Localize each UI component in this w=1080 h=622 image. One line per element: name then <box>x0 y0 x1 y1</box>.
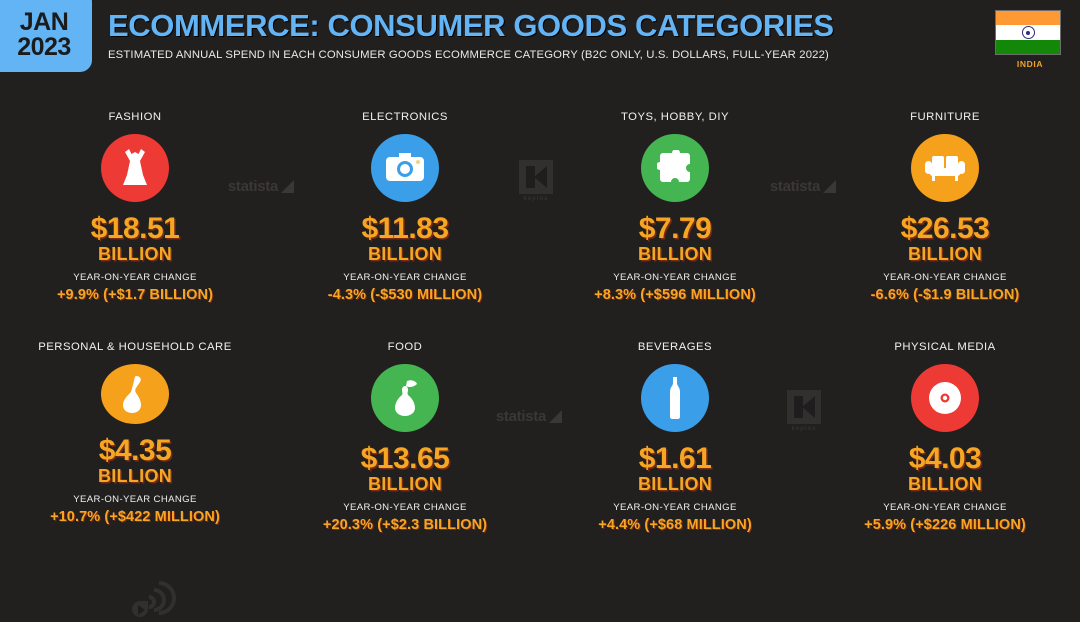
category-icon-circle <box>101 134 169 202</box>
category-label: ELECTRONICS <box>362 111 448 123</box>
yoy-label: YEAR-ON-YEAR CHANGE <box>343 502 466 513</box>
category-label: FASHION <box>108 111 161 123</box>
card-furniture: FURNITURE $26.53 BILLION YEAR-ON-YEAR CH… <box>810 100 1080 330</box>
category-value: $11.83 <box>361 213 448 244</box>
date-badge: JAN 2023 <box>0 0 92 72</box>
yoy-label: YEAR-ON-YEAR CHANGE <box>73 494 196 505</box>
category-unit: BILLION <box>908 244 982 265</box>
card-physical-media: PHYSICAL MEDIA $4.03 BILLION YEAR-ON-YEA… <box>810 330 1080 560</box>
signal-arc-icon <box>139 592 159 612</box>
disc-icon <box>922 375 968 421</box>
yoy-value: +5.9% (+$226 MILLION) <box>864 517 1026 533</box>
yoy-label: YEAR-ON-YEAR CHANGE <box>73 272 196 283</box>
category-label: TOYS, HOBBY, DIY <box>621 111 729 123</box>
camera-icon <box>386 153 424 183</box>
india-flag-icon <box>995 10 1061 55</box>
country-label: INDIA <box>995 59 1065 69</box>
category-grid: FASHION $18.51 BILLION YEAR-ON-YEAR CHAN… <box>0 100 1080 559</box>
category-unit: BILLION <box>638 244 712 265</box>
category-icon-circle <box>911 134 979 202</box>
yoy-label: YEAR-ON-YEAR CHANGE <box>613 502 736 513</box>
card-electronics: ELECTRONICS $11.83 BILLION YEAR-ON-YEAR … <box>270 100 540 330</box>
category-icon-circle <box>911 364 979 432</box>
page-subtitle: ESTIMATED ANNUAL SPEND IN EACH CONSUMER … <box>108 49 834 61</box>
header: JAN 2023 ECOMMERCE: CONSUMER GOODS CATEG… <box>0 0 1080 92</box>
social-dot-icon <box>132 601 148 617</box>
bottle-icon <box>665 377 685 419</box>
category-unit: BILLION <box>98 466 172 487</box>
card-toys-hobby-diy: TOYS, HOBBY, DIY $7.79 BILLION YEAR-ON-Y… <box>540 100 810 330</box>
category-unit: BILLION <box>368 474 442 495</box>
yoy-label: YEAR-ON-YEAR CHANGE <box>343 272 466 283</box>
yoy-value: +9.9% (+$1.7 BILLION) <box>57 287 213 303</box>
page-title: ECOMMERCE: CONSUMER GOODS CATEGORIES <box>108 8 834 44</box>
card-food: FOOD $13.65 BILLION YEAR-ON-YEAR CHANGE … <box>270 330 540 560</box>
category-unit: BILLION <box>908 474 982 495</box>
yoy-value: +20.3% (+$2.3 BILLION) <box>323 517 487 533</box>
category-label: FOOD <box>388 341 423 353</box>
signal-arc-icon <box>135 574 183 622</box>
category-value: $18.51 <box>91 213 180 244</box>
yoy-value: -6.6% (-$1.9 BILLION) <box>871 287 1020 303</box>
yoy-value: -4.3% (-$530 MILLION) <box>328 287 482 303</box>
category-unit: BILLION <box>368 244 442 265</box>
lotion-bottle-icon <box>119 375 151 413</box>
country-block: INDIA <box>995 10 1065 69</box>
card-fashion: FASHION $18.51 BILLION YEAR-ON-YEAR CHAN… <box>0 100 270 330</box>
yoy-value: +4.4% (+$68 MILLION) <box>598 517 752 533</box>
we-are-social-watermark <box>130 583 176 618</box>
social-play-icon <box>138 605 145 615</box>
category-value: $4.03 <box>909 443 982 474</box>
category-icon-circle <box>101 364 169 424</box>
yoy-value: +10.7% (+$422 MILLION) <box>50 509 220 525</box>
statista-wordmark: statista <box>496 408 546 425</box>
pear-icon <box>389 379 421 417</box>
yoy-label: YEAR-ON-YEAR CHANGE <box>883 502 1006 513</box>
category-icon-circle <box>641 364 709 432</box>
title-block: ECOMMERCE: CONSUMER GOODS CATEGORIES EST… <box>108 8 834 61</box>
category-value: $7.79 <box>639 213 712 244</box>
category-label: FURNITURE <box>910 111 980 123</box>
card-beverages: BEVERAGES $1.61 BILLION YEAR-ON-YEAR CHA… <box>540 330 810 560</box>
category-icon-circle <box>371 134 439 202</box>
category-label: BEVERAGES <box>638 341 712 353</box>
dress-icon <box>118 149 152 187</box>
yoy-value: +8.3% (+$596 MILLION) <box>594 287 756 303</box>
category-unit: BILLION <box>638 474 712 495</box>
yoy-label: YEAR-ON-YEAR CHANGE <box>613 272 736 283</box>
signal-arc-icon <box>137 583 171 617</box>
date-year: 2023 <box>17 35 71 60</box>
category-icon-circle <box>641 134 709 202</box>
sofa-icon <box>925 154 965 182</box>
category-value: $13.65 <box>361 443 450 474</box>
category-value: $1.61 <box>639 443 712 474</box>
category-icon-circle <box>371 364 439 432</box>
card-personal-household-care: PERSONAL & HOUSEHOLD CARE $4.35 BILLION … <box>0 330 270 560</box>
date-month: JAN <box>20 10 69 35</box>
category-value: $26.53 <box>901 213 990 244</box>
category-label: PHYSICAL MEDIA <box>894 341 995 353</box>
puzzle-piece-icon <box>657 150 693 186</box>
yoy-label: YEAR-ON-YEAR CHANGE <box>883 272 1006 283</box>
category-label: PERSONAL & HOUSEHOLD CARE <box>38 341 232 353</box>
category-unit: BILLION <box>98 244 172 265</box>
category-value: $4.35 <box>99 435 172 466</box>
